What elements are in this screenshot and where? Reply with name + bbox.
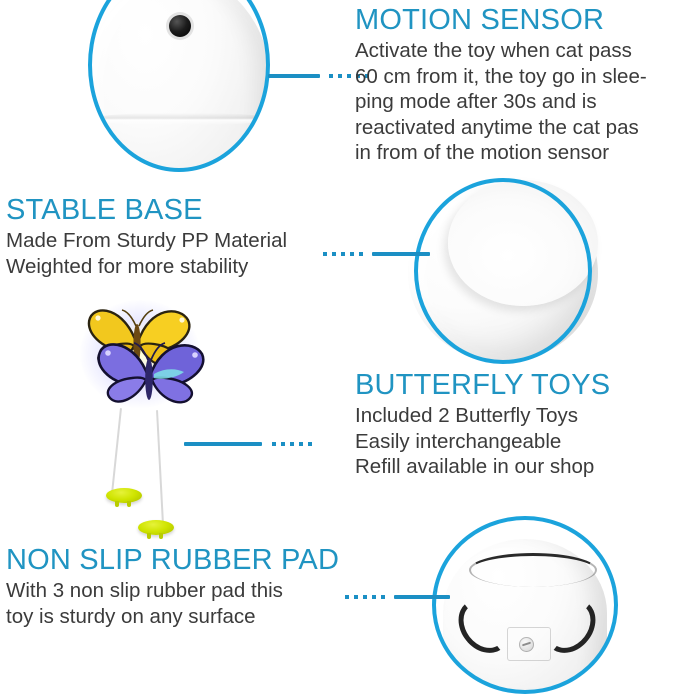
butterfly-toys-photo bbox=[78, 300, 203, 540]
feature-line: reactivated anytime the cat pas bbox=[355, 115, 677, 141]
motion-sensor-photo bbox=[88, 0, 270, 172]
feature-body-motion-sensor: Activate the toy when cat pass 60 cm fro… bbox=[355, 38, 677, 166]
feature-line: Weighted for more stability bbox=[6, 254, 346, 280]
connector-dash bbox=[394, 595, 450, 599]
feature-line: With 3 non slip rubber pad this bbox=[6, 578, 351, 604]
connector-motion-sensor bbox=[268, 73, 369, 79]
photo-ring-rubber-pad bbox=[432, 516, 618, 694]
feature-line: toy is sturdy on any surface bbox=[6, 604, 351, 630]
connector-dash bbox=[268, 74, 320, 78]
infographic-canvas: MOTION SENSOR Activate the toy when cat … bbox=[0, 0, 679, 686]
feature-body-butterfly-toys: Included 2 Butterfly Toys Easily interch… bbox=[355, 403, 675, 480]
connector-rubber-pad bbox=[345, 594, 450, 600]
feature-line: Made From Sturdy PP Material bbox=[6, 228, 346, 254]
feature-line: Refill available in our shop bbox=[355, 454, 675, 480]
feature-line: Easily interchangeable bbox=[355, 429, 675, 455]
feature-line: Included 2 Butterfly Toys bbox=[355, 403, 675, 429]
feature-body-stable-base: Made From Sturdy PP Material Weighted fo… bbox=[6, 228, 346, 279]
butterfly-purple-icon bbox=[92, 334, 210, 414]
feature-title-non-slip-rubber-pad: NON SLIP RUBBER PAD bbox=[6, 544, 351, 576]
feature-line: in from of the motion sensor bbox=[355, 140, 677, 166]
feature-title-motion-sensor: MOTION SENSOR bbox=[355, 4, 677, 36]
feature-non-slip-rubber-pad: NON SLIP RUBBER PAD With 3 non slip rubb… bbox=[6, 544, 351, 629]
rubber-pad-photo bbox=[432, 516, 618, 694]
feature-line: 60 cm from it, the toy go in slee- bbox=[355, 64, 677, 90]
butterfly-wire-left bbox=[111, 408, 122, 496]
butterfly-wire-right bbox=[156, 410, 164, 526]
feature-stable-base: STABLE BASE Made From Sturdy PP Material… bbox=[6, 194, 346, 279]
feature-line: Activate the toy when cat pass bbox=[355, 38, 677, 64]
feature-title-stable-base: STABLE BASE bbox=[6, 194, 346, 226]
photo-ring-stable-base bbox=[414, 178, 592, 364]
butterfly-cap-lower bbox=[138, 520, 174, 535]
connector-butterfly-toys bbox=[184, 441, 312, 447]
feature-body-non-slip-rubber-pad: With 3 non slip rubber pad this toy is s… bbox=[6, 578, 351, 629]
stable-base-photo bbox=[414, 178, 592, 364]
feature-motion-sensor: MOTION SENSOR Activate the toy when cat … bbox=[355, 4, 677, 166]
feature-butterfly-toys: BUTTERFLY TOYS Included 2 Butterfly Toys… bbox=[355, 369, 675, 480]
connector-dash bbox=[372, 252, 430, 256]
butterfly-cap-upper bbox=[106, 488, 142, 503]
feature-title-butterfly-toys: BUTTERFLY TOYS bbox=[355, 369, 675, 401]
connector-dots bbox=[272, 442, 312, 446]
feature-line: ping mode after 30s and is bbox=[355, 89, 677, 115]
connector-dash bbox=[184, 442, 262, 446]
